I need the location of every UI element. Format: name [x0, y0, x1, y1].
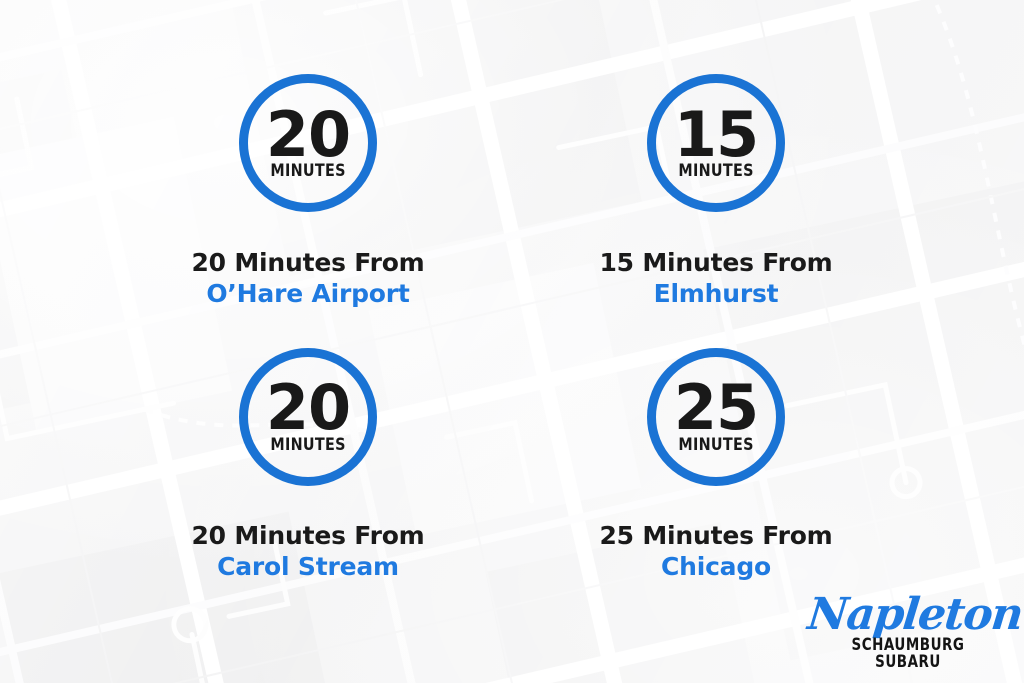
- badge-ohare-airport: 20 MINUTES 20 Minutes From O’Hare Airpor…: [104, 74, 512, 348]
- minutes-ring-carol-stream: 20 MINUTES: [239, 348, 377, 486]
- badge-caption: 15 Minutes From Elmhurst: [599, 248, 832, 310]
- drive-time-grid: 20 MINUTES 20 Minutes From O’Hare Airpor…: [0, 0, 1024, 683]
- caption-line-primary: 20 Minutes From: [191, 248, 424, 278]
- logo-subtitle: SCHAUMBURG SUBARU: [820, 637, 996, 671]
- ring-unit-label: MINUTES: [678, 437, 753, 454]
- caption-line-location: Chicago: [599, 551, 832, 583]
- caption-line-location: Elmhurst: [599, 278, 832, 310]
- caption-line-primary: 15 Minutes From: [599, 248, 832, 278]
- badge-caption: 25 Minutes From Chicago: [599, 521, 832, 583]
- badge-caption: 20 Minutes From O’Hare Airport: [191, 248, 424, 310]
- caption-line-primary: 25 Minutes From: [599, 521, 832, 551]
- minutes-ring-chicago: 25 MINUTES: [647, 348, 785, 486]
- ring-number: 25: [674, 383, 758, 434]
- ring-unit-label: MINUTES: [270, 163, 345, 180]
- ring-number: 15: [674, 110, 758, 161]
- minutes-ring-ohare-airport: 20 MINUTES: [239, 74, 377, 212]
- badge-caption: 20 Minutes From Carol Stream: [191, 521, 424, 583]
- drive-times-graphic: 20 MINUTES 20 Minutes From O’Hare Airpor…: [0, 0, 1024, 683]
- napletons-logo: Napleton’s SCHAUMBURG SUBARU: [808, 594, 1008, 671]
- caption-line-primary: 20 Minutes From: [191, 521, 424, 551]
- minutes-ring-elmhurst: 15 MINUTES: [647, 74, 785, 212]
- badge-carol-stream: 20 MINUTES 20 Minutes From Carol Stream: [104, 348, 512, 622]
- ring-number: 20: [266, 383, 350, 434]
- caption-line-location: O’Hare Airport: [191, 278, 424, 310]
- logo-wordmark: Napleton’s: [806, 594, 1010, 636]
- ring-number: 20: [266, 110, 350, 161]
- badge-elmhurst: 15 MINUTES 15 Minutes From Elmhurst: [512, 74, 920, 348]
- ring-unit-label: MINUTES: [270, 437, 345, 454]
- badge-chicago: 25 MINUTES 25 Minutes From Chicago: [512, 348, 920, 622]
- ring-unit-label: MINUTES: [678, 163, 753, 180]
- caption-line-location: Carol Stream: [191, 551, 424, 583]
